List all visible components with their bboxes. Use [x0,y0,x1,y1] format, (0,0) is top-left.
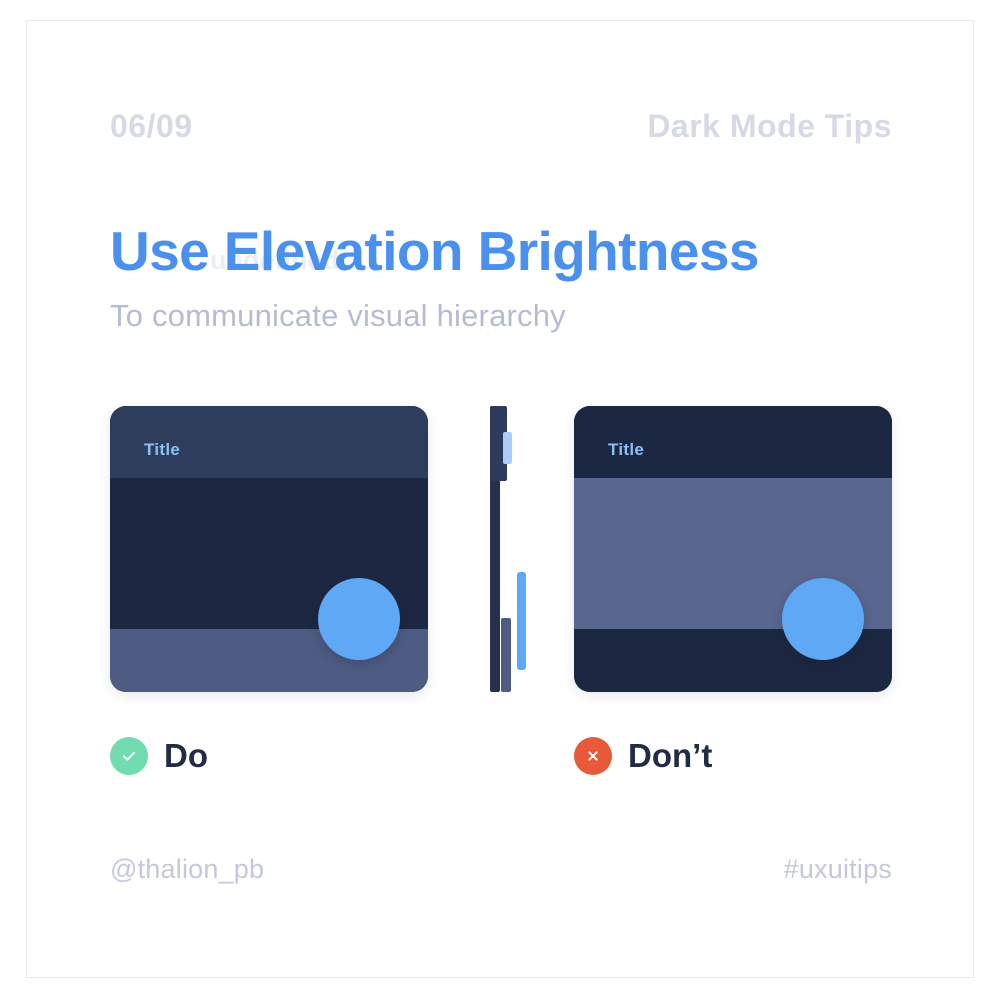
slide-footer: @thalion_pb #uxuitips [110,848,892,890]
verdict-row: Do Don’t [110,730,892,782]
verdict-dont-label: Don’t [628,737,712,775]
do-card-title: Title [144,440,180,460]
slide-header: 06/09 Dark Mode Tips [110,100,892,152]
verdict-do: Do [110,730,208,782]
do-card-fab-button[interactable] [318,578,400,660]
cross-icon [574,737,612,775]
hashtag[interactable]: #uxuitips [784,854,892,885]
squashed-card-title-chip [503,432,512,464]
verdict-dont: Don’t [574,730,712,782]
dont-card-title: Title [608,440,644,460]
comparison-area: Title Title [110,406,892,692]
slide-root: 06/09 Dark Mode Tips undefined Use Eleva… [0,0,1000,998]
slide-counter: 06/09 [110,108,193,145]
page-title: Use Elevation Brightness [110,215,759,287]
author-handle[interactable]: @thalion_pb [110,854,264,885]
squashed-example-card [484,406,532,692]
squashed-card-band-bar [501,618,511,692]
series-title: Dark Mode Tips [647,108,892,145]
page-subtitle: To communicate visual hierarchy [110,295,910,337]
headline-wrap: undefined Use Elevation Brightness [110,215,910,287]
dont-example-card: Title [574,406,892,692]
verdict-do-label: Do [164,737,208,775]
dont-card-fab-button[interactable] [782,578,864,660]
slide-content: 06/09 Dark Mode Tips undefined Use Eleva… [0,0,1000,998]
do-example-card: Title [110,406,428,692]
check-icon [110,737,148,775]
title-block: undefined Use Elevation Brightness To co… [110,215,910,337]
squashed-card-fab-bar [517,572,526,670]
